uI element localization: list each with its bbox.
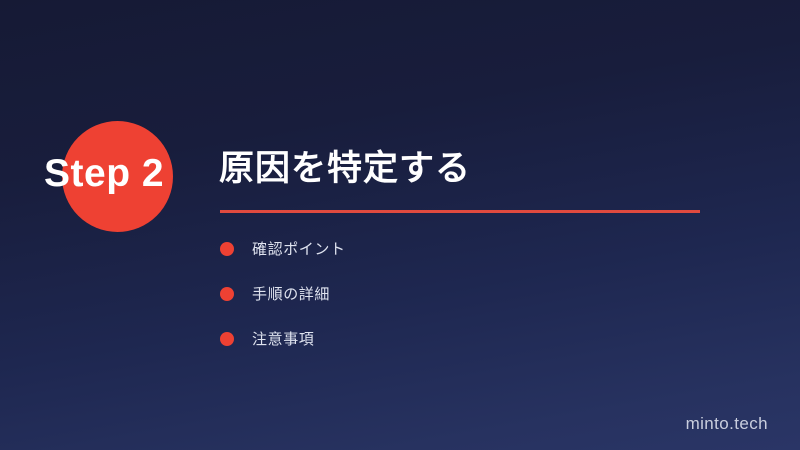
list-item: 確認ポイント bbox=[220, 234, 700, 263]
slide-canvas: Step 2 原因を特定する 確認ポイント 手順の詳細 注意事項 minto.t… bbox=[0, 0, 800, 450]
bullet-dot-icon bbox=[220, 287, 234, 301]
title-divider bbox=[220, 210, 700, 213]
footer-brand: minto.tech bbox=[686, 414, 768, 434]
bullet-dot-icon bbox=[220, 242, 234, 256]
list-item-label: 手順の詳細 bbox=[252, 283, 330, 304]
list-item-label: 注意事項 bbox=[252, 328, 314, 349]
bullet-dot-icon bbox=[220, 332, 234, 346]
step-badge-label: Step 2 bbox=[44, 151, 164, 197]
slide-title: 原因を特定する bbox=[219, 145, 471, 193]
list-item-label: 確認ポイント bbox=[252, 238, 346, 259]
list-item: 手順の詳細 bbox=[220, 279, 700, 308]
list-item: 注意事項 bbox=[220, 324, 700, 353]
bullet-list: 確認ポイント 手順の詳細 注意事項 bbox=[220, 234, 700, 369]
